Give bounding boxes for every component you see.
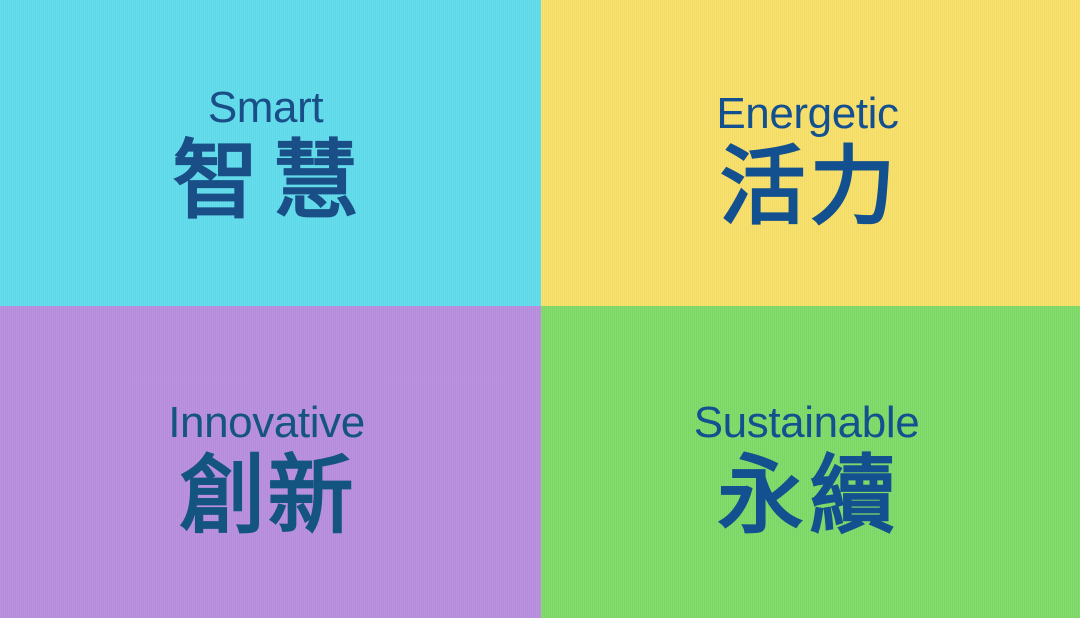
- quadrant-sustainable-english-label: Sustainable: [694, 401, 920, 445]
- quadrant-energetic-chinese-label: 活力: [716, 144, 900, 230]
- quadrant-smart-english-label: Smart: [208, 86, 323, 130]
- brand-values-grid: Smart 智慧 Energetic 活力 Innovative 創新 Sust…: [0, 0, 1080, 618]
- quadrant-energetic-content: Energetic 活力: [716, 92, 900, 230]
- quadrant-innovative-english-label: Innovative: [168, 401, 365, 445]
- quadrant-sustainable-content: Sustainable 永續: [694, 401, 920, 539]
- quadrant-energetic-english-label: Energetic: [716, 92, 898, 136]
- quadrant-smart[interactable]: Smart 智慧: [0, 0, 541, 306]
- quadrant-smart-content: Smart 智慧: [159, 86, 373, 224]
- quadrant-innovative-content: Innovative 創新: [168, 401, 365, 539]
- quadrant-innovative-chinese-label: 創新: [178, 453, 356, 539]
- quadrant-sustainable[interactable]: Sustainable 永續: [541, 306, 1080, 618]
- quadrant-smart-chinese-label: 智慧: [159, 138, 373, 224]
- quadrant-sustainable-chinese-label: 永續: [712, 453, 902, 539]
- quadrant-innovative[interactable]: Innovative 創新: [0, 306, 541, 618]
- quadrant-energetic[interactable]: Energetic 活力: [541, 0, 1080, 306]
